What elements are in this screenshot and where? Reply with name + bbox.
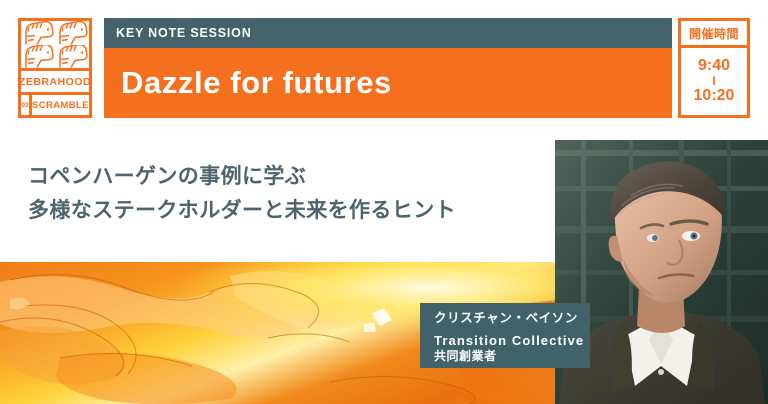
speaker-name: クリスチャン・ベイソン (434, 310, 590, 327)
logo-edition-number: 02 (21, 95, 32, 115)
logo-footer: 02 SCRAMBLE (21, 95, 89, 115)
time-box-label: 開催時間 (681, 21, 747, 48)
session-subtitle: コペンハーゲンの事例に学ぶ 多様なステークホルダーと未来を作るヒント (28, 160, 456, 228)
logo-zebra-grid (21, 21, 89, 71)
zebra-head-icon (21, 21, 55, 45)
session-title: Dazzle for futures (104, 48, 672, 118)
time-start: 9:40 (698, 58, 730, 75)
time-box-value: 9:40 I 10:20 (681, 48, 747, 115)
logo-wordmark: ZEBRAHOOD (21, 71, 89, 95)
zebra-head-icon (55, 45, 89, 69)
zebrahood-logo: ZEBRAHOOD 02 SCRAMBLE (18, 18, 92, 118)
keynote-session-slide: ZEBRAHOOD 02 SCRAMBLE KEY NOTE SESSION D… (0, 0, 768, 404)
speaker-organization: Transition Collective (434, 332, 590, 350)
zebra-head-icon (21, 45, 55, 69)
session-header-band: KEY NOTE SESSION Dazzle for futures (104, 18, 672, 118)
logo-subword: SCRAMBLE (32, 95, 89, 115)
time-end: 10:20 (694, 88, 735, 105)
speaker-info-plate: クリスチャン・ベイソン Transition Collective 共同創業者 (420, 303, 590, 368)
session-kicker-label: KEY NOTE SESSION (104, 18, 672, 48)
zebra-head-icon (55, 21, 89, 45)
speaker-role: 共同創業者 (434, 349, 590, 365)
session-time-box: 開催時間 9:40 I 10:20 (678, 18, 750, 118)
